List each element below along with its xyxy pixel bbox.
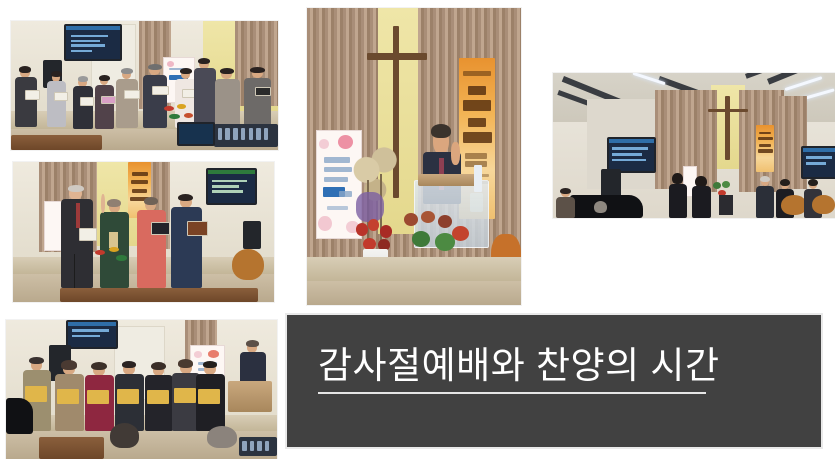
photo-scene bbox=[13, 162, 274, 302]
slide-canvas: Congregation standing with hymnals durin… bbox=[0, 0, 835, 459]
photo-scene bbox=[6, 320, 277, 459]
photo-scene bbox=[307, 8, 521, 305]
photo-congregation-standing[interactable]: Congregation standing with hymnals durin… bbox=[11, 21, 278, 150]
photo-scene bbox=[11, 21, 278, 150]
cross-icon bbox=[725, 96, 730, 160]
photo-sanctuary-praise[interactable]: Wide sanctuary view with praise team sin… bbox=[553, 73, 835, 218]
title-underline bbox=[318, 392, 706, 394]
page-title: 감사절예배와 찬양의 시간 bbox=[318, 347, 720, 384]
photo-choir-folders[interactable]: Choir members holding gold folders singi… bbox=[6, 320, 277, 459]
title-box[interactable]: 감사절예배와 찬양의 시간 bbox=[285, 313, 823, 449]
photo-elders-singing[interactable]: Elderly members singing with hymnals in … bbox=[13, 162, 274, 302]
photo-scene bbox=[553, 73, 835, 218]
photo-pastor-preaching[interactable]: 오직 예수로! 오직 십자가로! only Jesus! only his Cr… bbox=[307, 8, 521, 305]
